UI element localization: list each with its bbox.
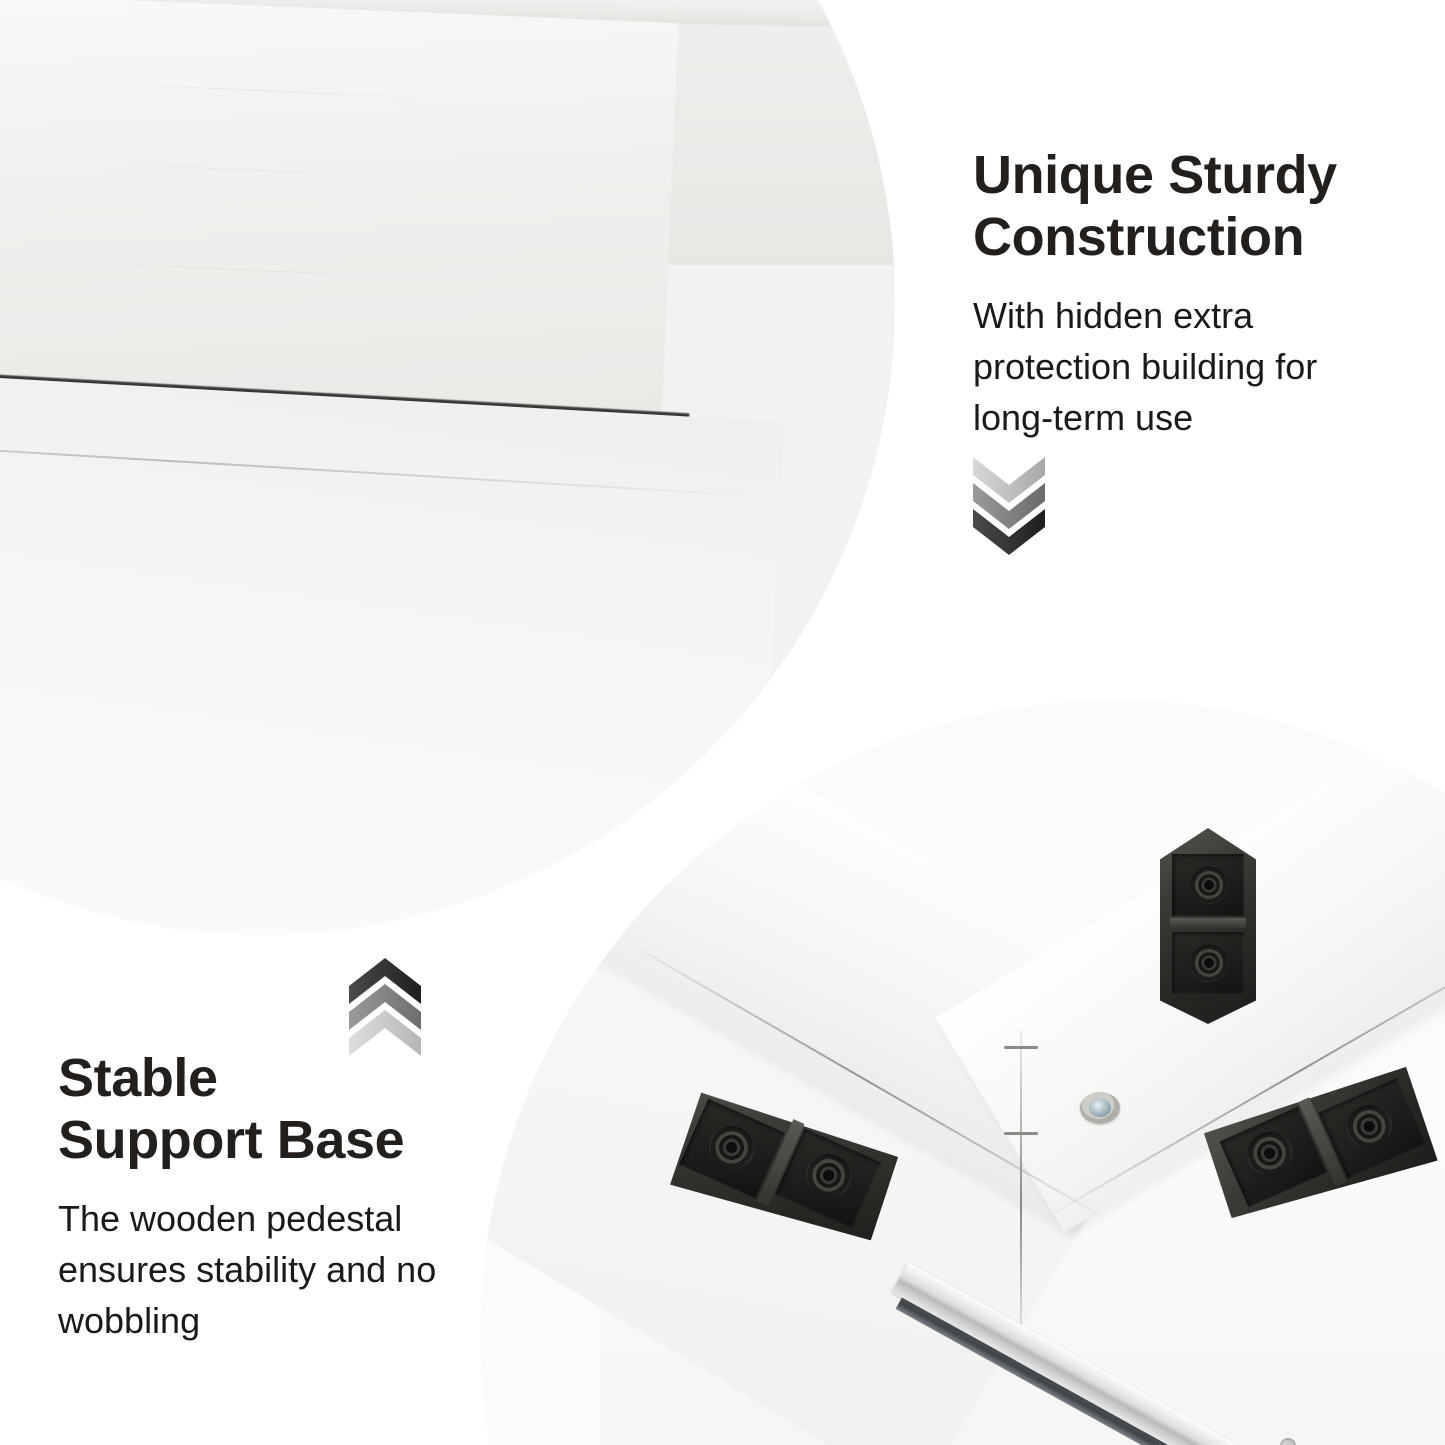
feature-body-support-base: The wooden pedestal ensures stability an…	[58, 1193, 508, 1346]
heading-line-2: Support Base	[58, 1110, 404, 1170]
heading-line-2: Construction	[973, 207, 1304, 267]
feature-body-sturdy-construction: With hidden extra protection building fo…	[973, 290, 1403, 443]
heading-line-1: Unique Sturdy	[973, 145, 1337, 205]
screw-fitting	[1080, 1092, 1120, 1124]
feature-text-sturdy-construction: Unique Sturdy Construction With hidden e…	[973, 145, 1403, 443]
corner-bracket-top	[1160, 828, 1256, 1024]
chevron-double-up-icon	[345, 958, 425, 1058]
photo-support-base	[480, 700, 1445, 1445]
chevron-double-down-icon	[969, 455, 1049, 555]
feature-heading-support-base: Stable Support Base	[58, 1048, 508, 1171]
infographic-canvas: Unique Sturdy Construction With hidden e…	[0, 0, 1445, 1445]
heading-line-1: Stable	[58, 1048, 218, 1108]
feature-text-support-base: Stable Support Base The wooden pedestal …	[58, 1048, 508, 1346]
feature-heading-sturdy-construction: Unique Sturdy Construction	[973, 145, 1403, 268]
